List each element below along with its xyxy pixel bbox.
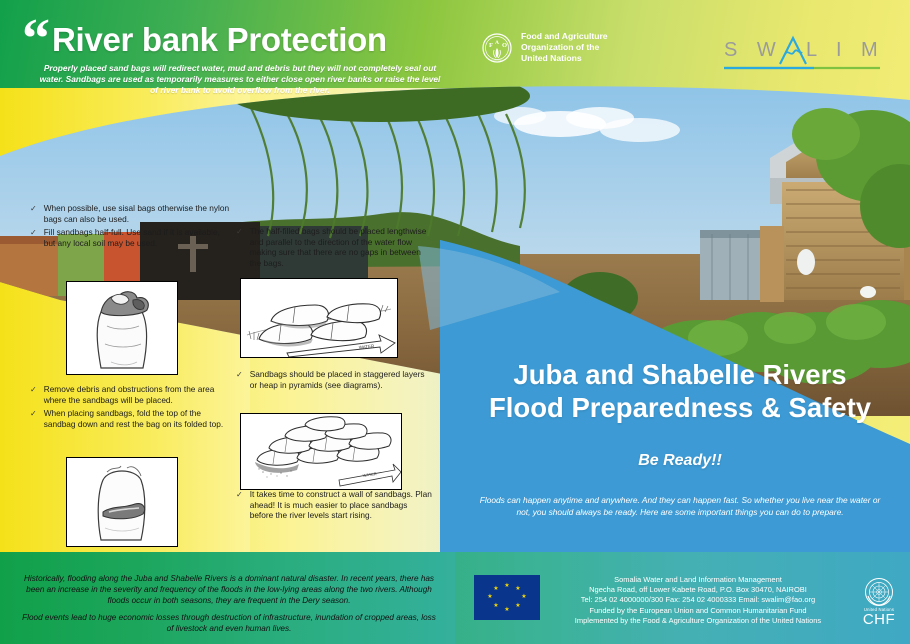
contact-line-3[interactable]: Tel: 254 02 4000000/300 Fax: 254 02 4000… [548, 595, 848, 605]
european-union-flag-icon: ★ ★ ★ ★ ★ ★ ★ ★ [474, 575, 540, 620]
main-headline: Juba and Shabelle Rivers Flood Preparedn… [455, 358, 905, 424]
list-item: ✓ Remove debris and obstructions from th… [30, 384, 230, 405]
quote-mark-icon: “ [22, 22, 48, 56]
fao-line-2: Organization of the [521, 42, 608, 53]
fao-logo-text: Food and Agriculture Organization of the… [521, 31, 608, 64]
list-item: ✓ When placing sandbags, fold the top of… [30, 408, 230, 429]
tip-text: The half-filled bags should be placed le… [250, 226, 432, 268]
list-item: ✓ It takes time to construct a wall of s… [236, 489, 432, 521]
poster-root: “ River bank Protection Properly placed … [0, 0, 910, 644]
list-item: ✓ When possible, use sisal bags otherwis… [30, 203, 230, 224]
mid-tip-3: ✓ It takes time to construct a wall of s… [236, 489, 432, 524]
page-title: River bank Protection [52, 21, 387, 59]
fao-line-3: United Nations [521, 53, 608, 64]
svg-text:★: ★ [487, 593, 492, 600]
svg-text:★: ★ [493, 602, 498, 609]
left-tips-group-1: ✓ When possible, use sisal bags otherwis… [30, 203, 230, 251]
check-icon: ✓ [30, 384, 37, 405]
svg-text:F: F [489, 42, 493, 49]
right-panel-body-text: Floods can happen anytime and anywhere. … [478, 494, 882, 518]
check-icon: ✓ [30, 227, 37, 248]
tip-text: It takes time to construct a wall of san… [250, 489, 432, 521]
headline-line-2: Flood Preparedness & Safety [455, 391, 905, 424]
fao-emblem-icon: F A O FIAT PANIS [482, 33, 512, 63]
check-icon: ✓ [30, 203, 37, 224]
chf-logo-block: United Nations CHF [855, 577, 903, 628]
check-icon: ✓ [236, 369, 243, 390]
tip-text: When placing sandbags, fold the top of t… [44, 408, 230, 429]
footer-contact-block: Somalia Water and Land Information Manag… [548, 575, 848, 626]
svg-text:O: O [502, 42, 507, 49]
mid-tip-2: ✓ Sandbags should be placed in staggered… [236, 369, 432, 393]
svg-text:★: ★ [515, 585, 520, 592]
sandbags-lengthwise-row-illustration: WATER [240, 278, 398, 358]
svg-text:A: A [495, 40, 499, 46]
check-icon: ✓ [236, 226, 243, 268]
left-tips-group-2: ✓ Remove debris and obstructions from th… [30, 384, 230, 432]
tip-text: When possible, use sisal bags otherwise … [44, 203, 230, 224]
tip-text: Remove debris and obstructions from the … [44, 384, 230, 405]
sandbag-open-top-illustration [66, 281, 178, 375]
sandbag-folded-top-illustration [66, 457, 178, 547]
check-icon: ✓ [30, 408, 37, 429]
contact-line-4: Funded by the European Union and Common … [548, 606, 848, 616]
check-icon: ✓ [236, 489, 243, 521]
footer-paragraph-1: Historically, flooding along the Juba an… [22, 573, 436, 607]
svg-text:★: ★ [515, 602, 520, 609]
list-item: ✓ Sandbags should be placed in staggered… [236, 369, 432, 390]
swalim-logo-icon: S W L I M [722, 32, 882, 76]
sandbags-staggered-pyramid-illustration: WATER [240, 413, 402, 490]
footer-paragraph-2: Flood events lead to huge economic losse… [22, 612, 436, 634]
chf-acronym: CHF [855, 612, 903, 628]
list-item: ✓ Fill sandbags half-full. Use sand if i… [30, 227, 230, 248]
header-subtitle: Properly placed sand bags will redirect … [36, 63, 444, 97]
fao-logo-block: F A O FIAT PANIS Food and Agriculture Or… [482, 31, 608, 64]
headline-line-1: Juba and Shabelle Rivers [455, 358, 905, 391]
tip-text: Fill sandbags half-full. Use sand if it … [44, 227, 230, 248]
svg-text:★: ★ [521, 593, 526, 600]
footer-left-text: Historically, flooding along the Juba an… [22, 573, 436, 634]
tagline: Be Ready!! [455, 452, 905, 470]
contact-line-5: Implemented by the Food & Agriculture Or… [548, 616, 848, 626]
tip-text: Sandbags should be placed in staggered l… [250, 369, 432, 390]
svg-text:★: ★ [504, 606, 509, 613]
svg-text:L I M: L I M [806, 39, 882, 61]
contact-line-2: Ngecha Road, off Lower Kabete Road, P.O.… [548, 585, 848, 595]
contact-line-1: Somalia Water and Land Information Manag… [548, 575, 848, 585]
svg-text:★: ★ [493, 585, 498, 592]
fao-line-1: Food and Agriculture [521, 31, 608, 42]
list-item: ✓ The half-filled bags should be placed … [236, 226, 432, 268]
mid-tip-1: ✓ The half-filled bags should be placed … [236, 226, 432, 271]
svg-text:★: ★ [504, 582, 509, 589]
svg-text:S W: S W [724, 39, 783, 61]
un-emblem-icon [864, 577, 894, 607]
